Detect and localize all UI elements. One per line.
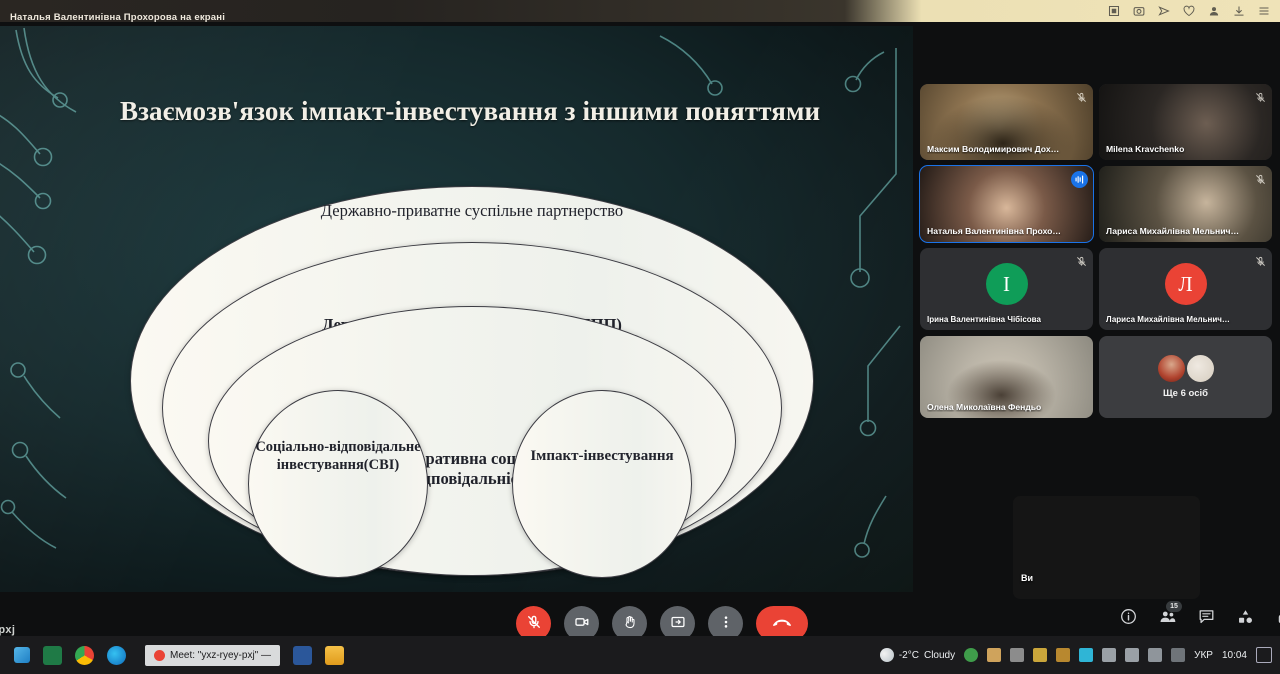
people-icon[interactable]: 15 bbox=[1159, 608, 1176, 625]
avatar bbox=[1158, 355, 1185, 382]
mic-muted-icon bbox=[1076, 90, 1087, 101]
overflow-participants-tile[interactable]: Ще 6 осіб bbox=[1099, 336, 1272, 418]
self-view-tile[interactable]: Ви bbox=[1013, 496, 1200, 599]
excel-icon[interactable] bbox=[43, 646, 62, 665]
participant-name: Максим Володимирович Дох… bbox=[927, 144, 1071, 154]
microphone-muted-icon bbox=[526, 614, 542, 633]
weather-temperature: -2°C bbox=[899, 650, 919, 661]
participant-row: Максим Володимирович Дох… Milena Kravche… bbox=[920, 84, 1272, 160]
self-label: Ви bbox=[1021, 573, 1033, 583]
meeting-details-icon[interactable] bbox=[1120, 608, 1137, 625]
downloads-icon[interactable] bbox=[1233, 5, 1245, 17]
weather-widget[interactable]: -2°C Cloudy bbox=[880, 648, 955, 662]
avatar bbox=[1187, 355, 1214, 382]
overflow-avatars bbox=[1158, 355, 1214, 382]
mic-muted-icon bbox=[1255, 90, 1266, 101]
tray-icon-display[interactable] bbox=[1079, 648, 1093, 662]
participant-row: Олена Миколаївна Фендьо Ще 6 осіб bbox=[920, 336, 1272, 418]
participant-tile[interactable]: Олена Миколаївна Фендьо bbox=[920, 336, 1093, 418]
participant-name: Наталья Валентинівна Прохо… bbox=[927, 226, 1071, 236]
video-camera-icon bbox=[574, 614, 590, 633]
more-vertical-icon bbox=[718, 614, 734, 633]
avatar-initial: І bbox=[1003, 272, 1010, 297]
participant-tile[interactable]: Лариса Михайлівна Мельнич… bbox=[1099, 166, 1272, 242]
word-icon[interactable] bbox=[293, 646, 312, 665]
taskbar-tray: -2°C Cloudy УКР 10:04 bbox=[880, 647, 1280, 663]
avatar: Л bbox=[1165, 263, 1207, 305]
meet-app: Взаємозв'язок імпакт-інвестування з інши… bbox=[0, 22, 1280, 636]
notifications-icon[interactable] bbox=[1256, 647, 1272, 663]
participant-name: Ірина Валентинівна Чібісова bbox=[927, 315, 1087, 324]
ellipse-socially-responsible-investing: Соціально-відповідальне інвестування(СВІ… bbox=[248, 390, 428, 578]
tray-icon-usb[interactable] bbox=[987, 648, 1001, 662]
ellipse-label-sri: Соціально-відповідальне інвестування(СВІ… bbox=[235, 439, 441, 474]
start-icon[interactable] bbox=[14, 647, 30, 663]
edge-icon[interactable] bbox=[107, 646, 126, 665]
participant-name: Олена Миколаївна Фендьо bbox=[927, 402, 1071, 412]
activities-icon[interactable] bbox=[1237, 608, 1254, 625]
avatar: І bbox=[986, 263, 1028, 305]
end-call-icon bbox=[771, 615, 793, 633]
participant-tile[interactable]: Л Лариса Михайлівна Мельнич… bbox=[1099, 248, 1272, 330]
taskbar-item-label: Meet: "yxz-ryey-pxj" — bbox=[170, 650, 271, 661]
mic-muted-icon bbox=[1255, 172, 1266, 183]
participant-tile-active-speaker[interactable]: Наталья Валентинівна Прохо… bbox=[920, 166, 1093, 242]
ellipse-impact-investing: Імпакт-інвестування bbox=[512, 390, 692, 578]
cloud-icon bbox=[880, 648, 894, 662]
language-indicator[interactable]: УКР bbox=[1194, 650, 1213, 661]
windows-taskbar: Meet: "yxz-ryey-pxj" — -2°C Cloudy УКР 1… bbox=[0, 636, 1280, 674]
raised-hand-icon bbox=[622, 614, 638, 633]
screenshot-icon[interactable] bbox=[1133, 5, 1145, 17]
weather-description: Cloudy bbox=[924, 650, 955, 661]
profile-icon[interactable] bbox=[1208, 5, 1220, 17]
presentation-stage[interactable]: Взаємозв'язок імпакт-інвестування з інши… bbox=[0, 26, 913, 592]
browser-tab-bar: Наталья Валентинівна Прохорова на екрані bbox=[0, 0, 1280, 22]
menu-icon[interactable] bbox=[1258, 5, 1270, 17]
venn-diagram: Державно-приватне суспільне партнерство … bbox=[130, 186, 820, 576]
chrome-icon[interactable] bbox=[75, 646, 94, 665]
mic-muted-icon bbox=[1255, 254, 1266, 265]
host-controls-icon[interactable] bbox=[1276, 608, 1280, 625]
screen-capture: Наталья Валентинівна Прохорова на екрані bbox=[0, 0, 1280, 674]
participant-name: Лариса Михайлівна Мельнич… bbox=[1106, 315, 1266, 324]
taskbar-item-meet[interactable]: Meet: "yxz-ryey-pxj" — bbox=[145, 645, 280, 666]
active-speaker-icon bbox=[1071, 171, 1088, 188]
tray-icon-app[interactable] bbox=[1033, 648, 1047, 662]
participant-row: І Ірина Валентинівна Чібісова Л Лариса М… bbox=[920, 248, 1272, 330]
chrome-app-icon bbox=[154, 650, 165, 661]
chat-icon[interactable] bbox=[1198, 608, 1215, 625]
clock[interactable]: 10:04 bbox=[1222, 650, 1247, 661]
volume-icon[interactable] bbox=[1125, 648, 1139, 662]
favorite-heart-icon[interactable] bbox=[1183, 5, 1195, 17]
browser-toolbar-icons bbox=[1108, 2, 1270, 19]
network-icon[interactable] bbox=[1102, 648, 1116, 662]
file-explorer-icon[interactable] bbox=[325, 646, 344, 665]
meeting-code-label: y-pxj bbox=[0, 624, 15, 636]
overflow-label: Ще 6 осіб bbox=[1163, 388, 1208, 399]
send-icon[interactable] bbox=[1158, 5, 1170, 17]
mic-muted-icon bbox=[1076, 254, 1087, 265]
avatar-initial: Л bbox=[1178, 272, 1192, 297]
meeting-side-icons: 15 bbox=[1120, 608, 1280, 625]
participant-name: Лариса Михайлівна Мельнич… bbox=[1106, 226, 1250, 236]
tray-icon-antivirus[interactable] bbox=[1010, 648, 1024, 662]
taskbar-apps: Meet: "yxz-ryey-pxj" — bbox=[0, 645, 344, 666]
participant-row: Наталья Валентинівна Прохо… Лариса Михай… bbox=[920, 166, 1272, 242]
extensions-icon[interactable] bbox=[1108, 5, 1120, 17]
participant-tile[interactable]: І Ірина Валентинівна Чібісова bbox=[920, 248, 1093, 330]
ellipse-label-outer: Державно-приватне суспільне партнерство bbox=[131, 201, 813, 221]
participant-name: Milena Kravchenko bbox=[1106, 144, 1250, 154]
participant-tile[interactable]: Milena Kravchenko bbox=[1099, 84, 1272, 160]
present-screen-icon bbox=[670, 614, 686, 633]
ellipse-label-impact: Імпакт-інвестування bbox=[507, 447, 697, 465]
participant-count-badge: 15 bbox=[1166, 601, 1182, 612]
slide-title: Взаємозв'язок імпакт-інвестування з інши… bbox=[120, 96, 860, 127]
tray-icon-shield[interactable] bbox=[964, 648, 978, 662]
monitor-icon[interactable] bbox=[1148, 648, 1162, 662]
participant-tile[interactable]: Максим Володимирович Дох… bbox=[920, 84, 1093, 160]
tray-icon-update[interactable] bbox=[1056, 648, 1070, 662]
participant-rail: Максим Володимирович Дох… Milena Kravche… bbox=[920, 84, 1272, 424]
keyboard-icon[interactable] bbox=[1171, 648, 1185, 662]
